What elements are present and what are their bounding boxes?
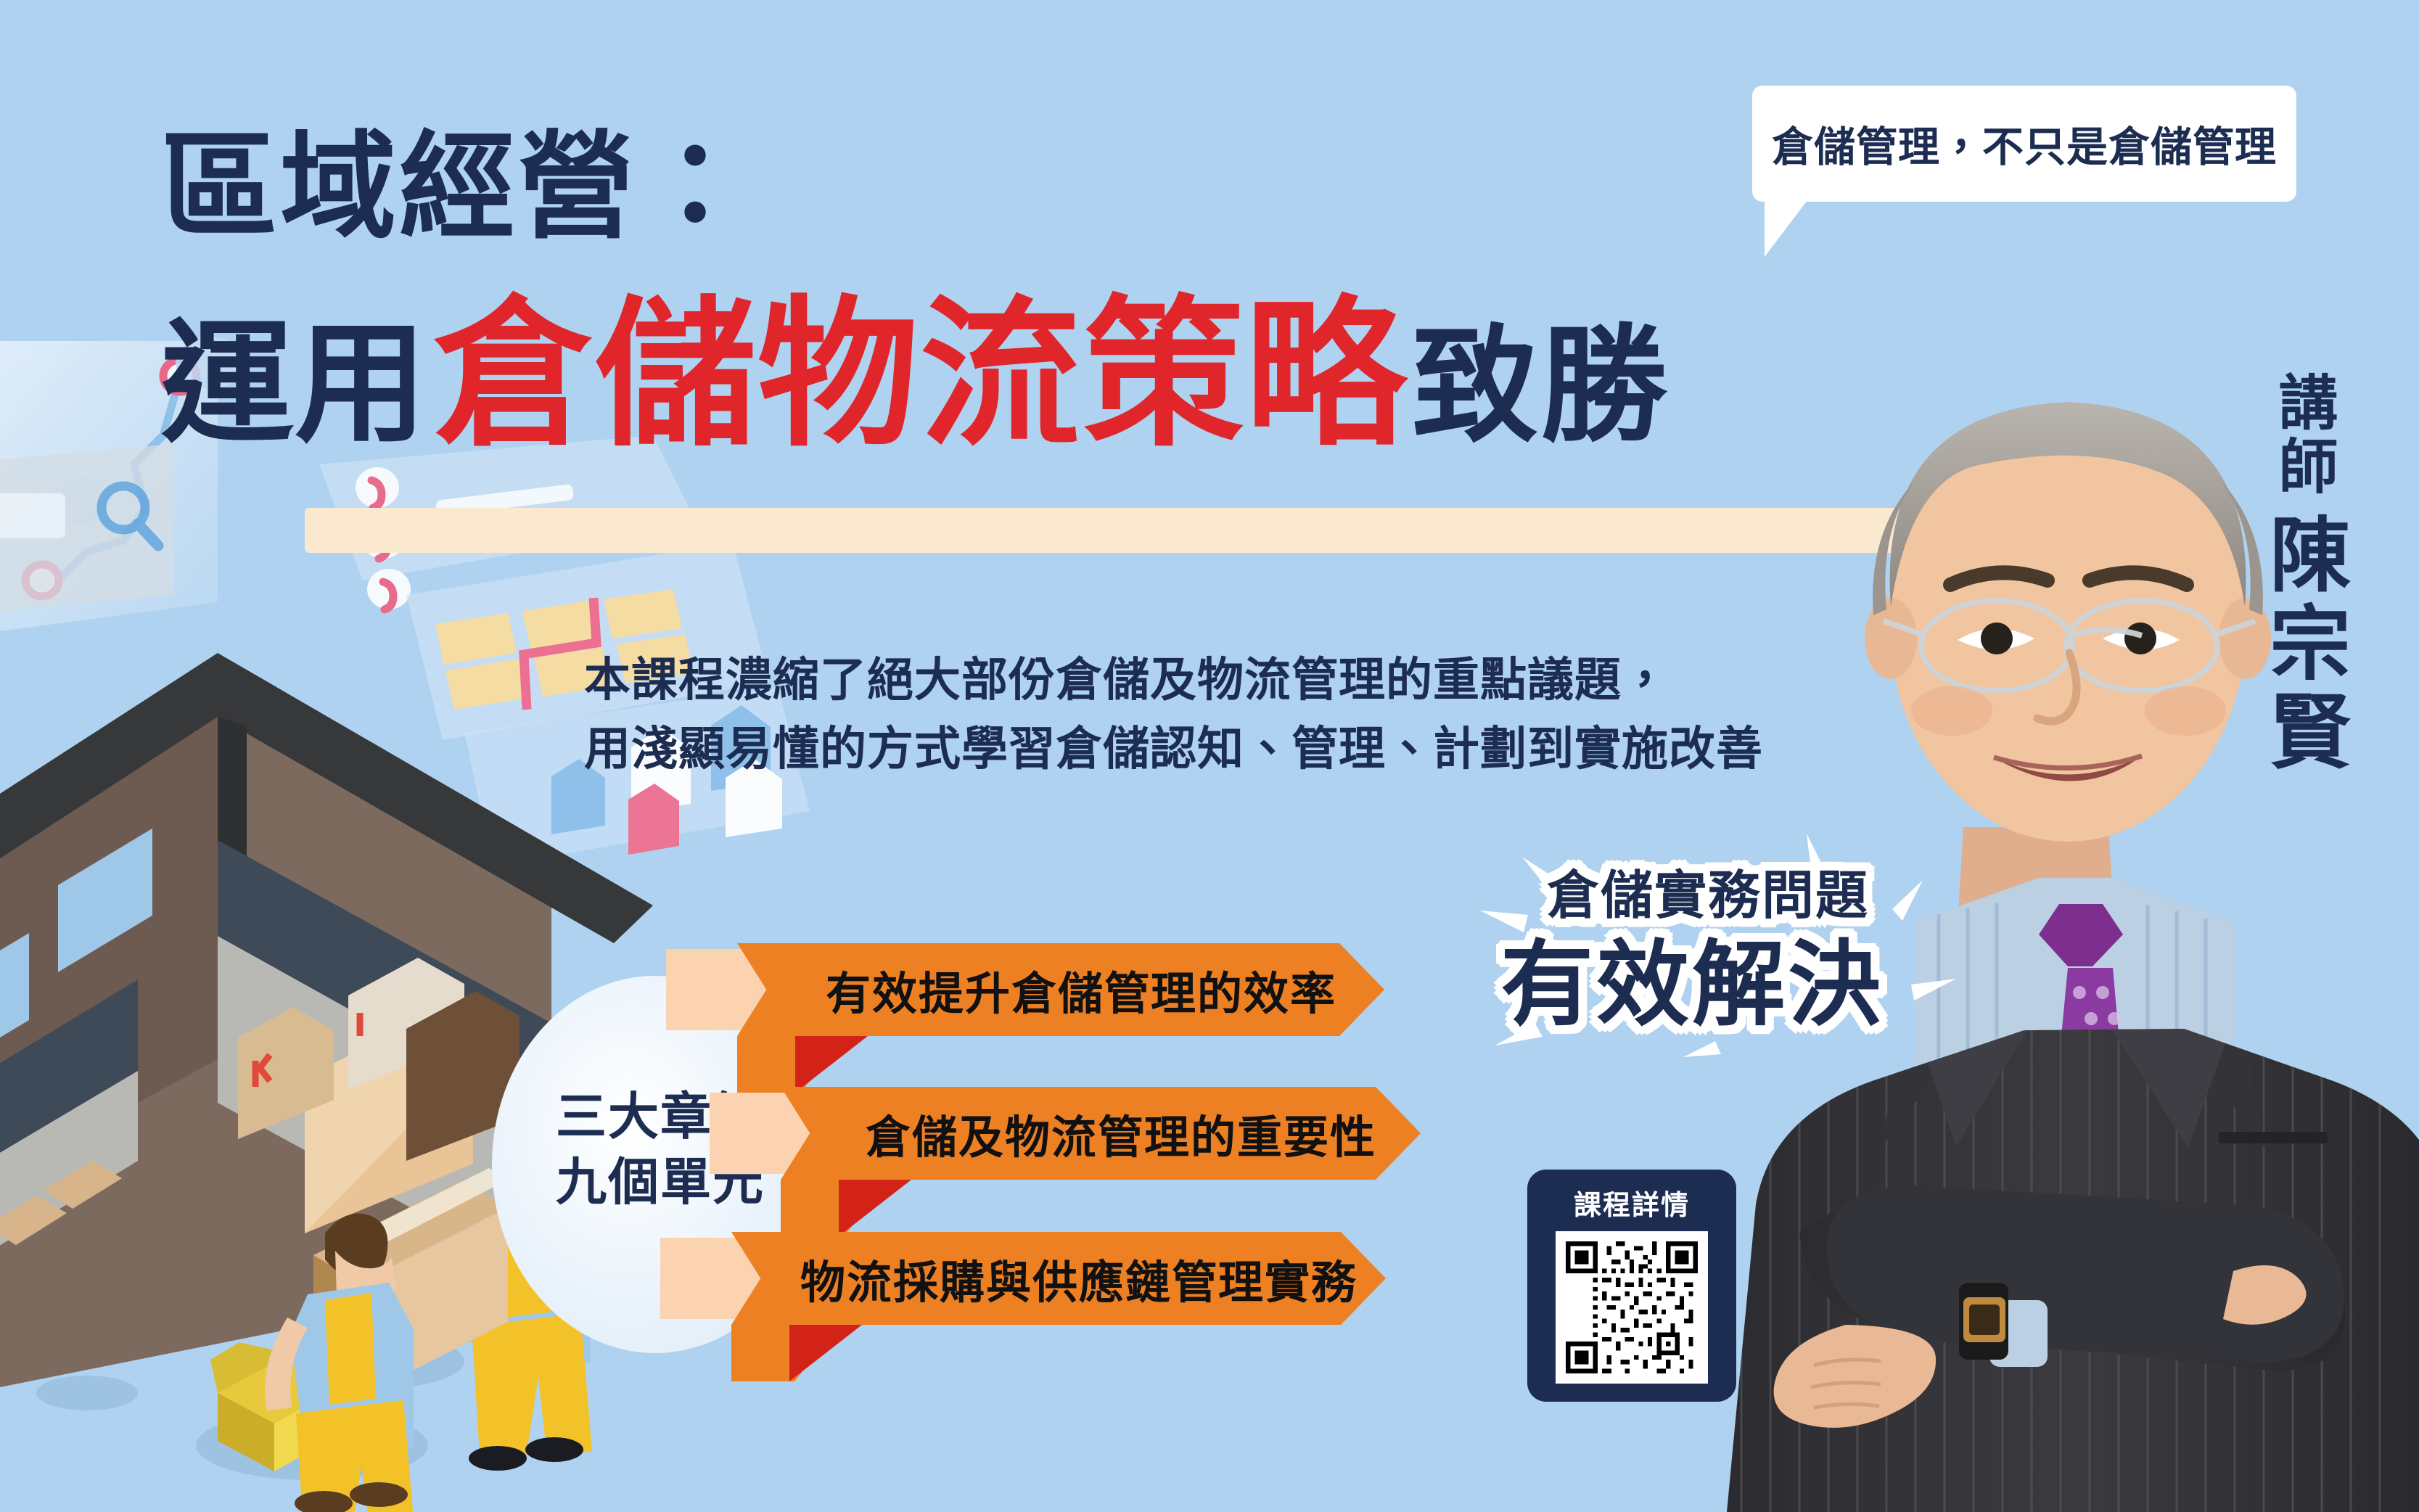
title-line-2-prefix: 運用 xyxy=(161,318,428,450)
feature-ribbon[interactable]: 物流採購與供應鏈管理實務 xyxy=(798,1232,1386,1325)
title-line-1: 區域經營： xyxy=(161,129,756,245)
title-line-2-highlight: 倉儲物流策略 xyxy=(432,295,1408,456)
qr-code-image[interactable] xyxy=(1556,1231,1708,1384)
ribbon-body: 有效提升倉儲管理的效率 xyxy=(804,943,1384,1036)
ribbon-body: 倉儲及物流管理的重要性 xyxy=(847,1087,1421,1180)
qr-panel-title: 課程詳情 xyxy=(1574,1183,1690,1223)
course-description: 本課程濃縮了絕大部份倉儲及物流管理的重點議題， 用淺顯易懂的方式學習倉儲認知、管… xyxy=(584,646,1763,783)
instructor-name: 陳宗賢 xyxy=(2262,512,2344,778)
qr-code-icon xyxy=(1566,1241,1698,1373)
open-yellow-box xyxy=(210,1342,370,1471)
title-line-2-suffix: 致勝 xyxy=(1412,323,1669,450)
ribbon-body: 物流採購與供應鏈管理實務 xyxy=(798,1232,1386,1325)
crossed-arms xyxy=(1774,1186,2346,1428)
title-line-2: 運用 倉儲物流策略 致勝 xyxy=(161,289,1669,450)
speech-bubble-tail xyxy=(1765,197,1810,257)
ribbon-label: 物流採購與供應鏈管理實務 xyxy=(800,1246,1358,1311)
ribbon-label: 倉儲及物流管理的重要性 xyxy=(866,1101,1376,1166)
speech-bubble-text: 倉儲管理，不只是倉儲管理 xyxy=(1772,114,2277,173)
distance-label: km xyxy=(0,921,112,1010)
stacked-cartons xyxy=(238,958,519,1233)
instructor-head xyxy=(1865,402,2271,842)
instructor-role-label: 講師 xyxy=(2272,371,2332,499)
search-panel xyxy=(0,444,174,617)
feature-ribbon[interactable]: 倉儲及物流管理的重要性 xyxy=(847,1087,1421,1180)
title-highlight-bar xyxy=(305,508,1937,553)
feature-ribbon[interactable]: 有效提升倉儲管理的效率 xyxy=(804,943,1384,1036)
location-pin-icon xyxy=(26,775,125,920)
worker-carrying-box-front xyxy=(265,1213,415,1512)
ribbon-label: 有效提升倉儲管理的效率 xyxy=(826,957,1336,1022)
promo-banner: km xyxy=(0,0,2419,1512)
burst-badge: 倉儲實務問題 有效解決 xyxy=(1466,823,1974,1063)
burst-badge-large-text: 有效解決 xyxy=(1500,909,1884,1043)
speech-bubble: 倉儲管理，不只是倉儲管理 xyxy=(1752,86,2296,202)
qr-panel[interactable]: 課程詳情 xyxy=(1527,1170,1736,1402)
carried-carton xyxy=(313,1168,508,1397)
